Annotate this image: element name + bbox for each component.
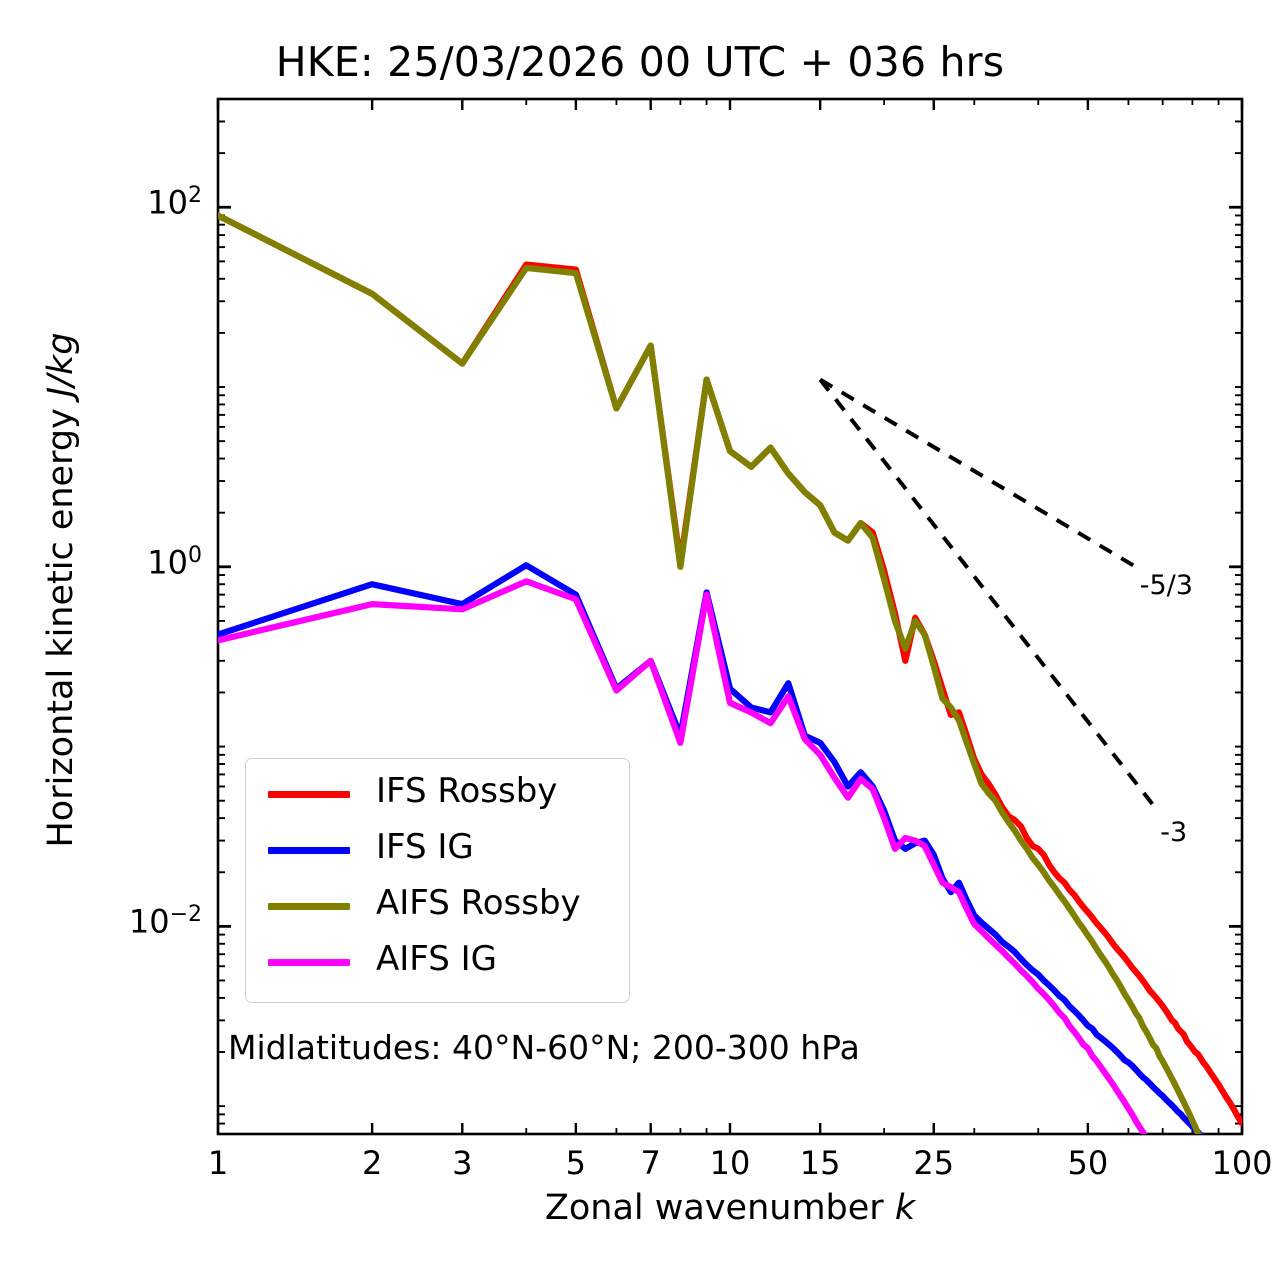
y-tick-label: 10−2 [22,902,202,941]
legend-swatch-ifs-ig [268,847,350,854]
legend-item-aifs-ig[interactable]: AIFS IG [246,937,629,991]
reference-line-minus-five-thirds [820,380,1136,567]
x-tick-label: 1 [158,1144,278,1182]
reference-line-minus-three [820,380,1156,809]
legend-label-aifs-rossby: AIFS Rossby [376,883,581,923]
legend-label-ifs-ig: IFS IG [376,827,474,867]
region-annotation: Midlatitudes: 40°N-60°N; 200-300 hPa [228,1028,860,1067]
series-line-aifs-rossby [218,215,1242,1244]
slope-label-minus-five-thirds: -5/3 [1140,570,1193,601]
legend-item-aifs-rossby[interactable]: AIFS Rossby [246,881,629,935]
legend-label-aifs-ig: AIFS IG [376,939,497,979]
x-tick-label: 15 [760,1144,880,1182]
legend-swatch-aifs-ig [268,959,350,966]
x-tick-label: 3 [402,1144,522,1182]
y-tick-label: 100 [22,543,202,582]
reference-lines-group [820,380,1156,809]
y-tick-label: 102 [22,183,202,222]
figure-hke-spectrum: HKE: 25/03/2026 00 UTC + 036 hrs Horizon… [0,0,1280,1288]
legend-label-ifs-rossby: IFS Rossby [376,771,557,811]
legend-item-ifs-ig[interactable]: IFS IG [246,825,629,879]
legend-item-ifs-rossby[interactable]: IFS Rossby [246,769,629,823]
x-tick-label: 25 [874,1144,994,1182]
slope-label-minus-three: -3 [1160,817,1187,848]
legend-swatch-aifs-rossby [268,903,350,910]
x-tick-label: 50 [1028,1144,1148,1182]
x-tick-label: 100 [1182,1144,1280,1182]
legend[interactable]: IFS Rossby IFS IG AIFS Rossby AIFS IG [245,758,630,1003]
legend-swatch-ifs-rossby [268,791,350,798]
